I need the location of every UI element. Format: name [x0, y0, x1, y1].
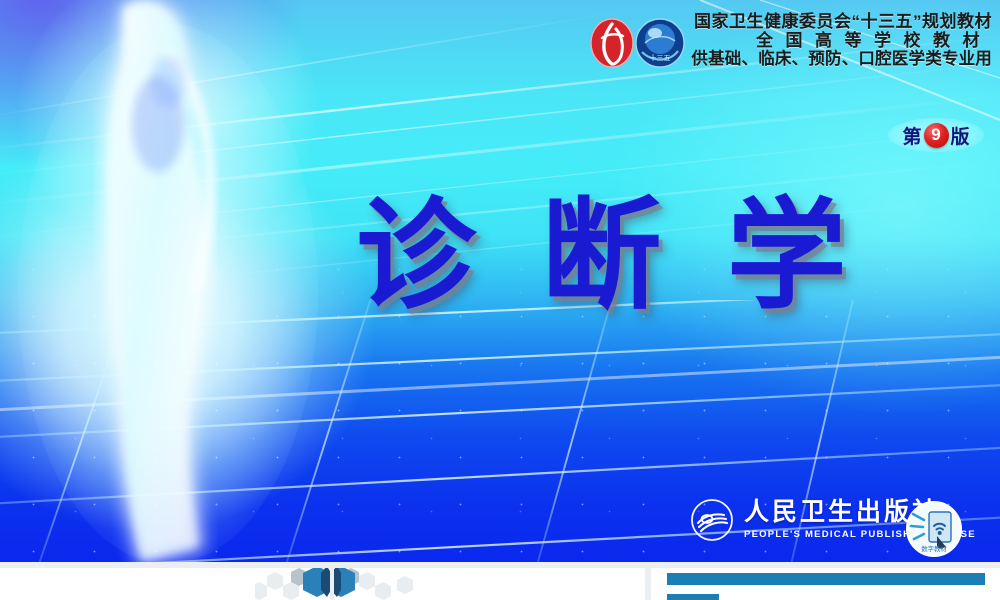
- edition-suffix: 版: [951, 122, 970, 149]
- slide-title: 诊 断 学: [356, 196, 863, 316]
- presentation-stage: 十三五 国家卫生健康委员会“十三五”规划教材 全国高等学校教材 供基础、临床、预…: [0, 0, 1000, 600]
- header-line-3: 供基础、临床、预防、口腔医学类专业用: [691, 50, 992, 68]
- slide-canvas[interactable]: 十三五 国家卫生健康委员会“十三五”规划教材 全国高等学校教材 供基础、临床、预…: [0, 0, 1000, 562]
- header-line-2: 全国高等学校教材: [691, 31, 992, 50]
- preview-left-panel[interactable]: [0, 568, 645, 600]
- hexagon-molecule-graphic: [255, 568, 455, 600]
- edition-badge: 第 9 版: [888, 118, 984, 152]
- header-line-1: 国家卫生健康委员会“十三五”规划教材: [691, 12, 992, 31]
- edition-prefix: 第: [902, 122, 921, 149]
- pmph-circular-mark-icon: [690, 498, 734, 542]
- textbook-header-block: 十三五 国家卫生健康委员会“十三五”规划教材 全国高等学校教材 供基础、临床、预…: [691, 12, 992, 69]
- next-slide-preview[interactable]: [0, 568, 1000, 600]
- digital-textbook-badge-icon: 数字教材: [905, 500, 963, 558]
- preview-right-panel[interactable]: [651, 568, 1000, 600]
- globe-logo-caption: 十三五: [650, 53, 671, 62]
- header-logos: 十三五: [586, 16, 686, 70]
- preview-content-chip: [667, 594, 719, 600]
- edition-number: 9: [924, 123, 949, 148]
- preview-title-bar: [667, 573, 985, 585]
- digital-badge-label: 数字教材: [921, 544, 947, 553]
